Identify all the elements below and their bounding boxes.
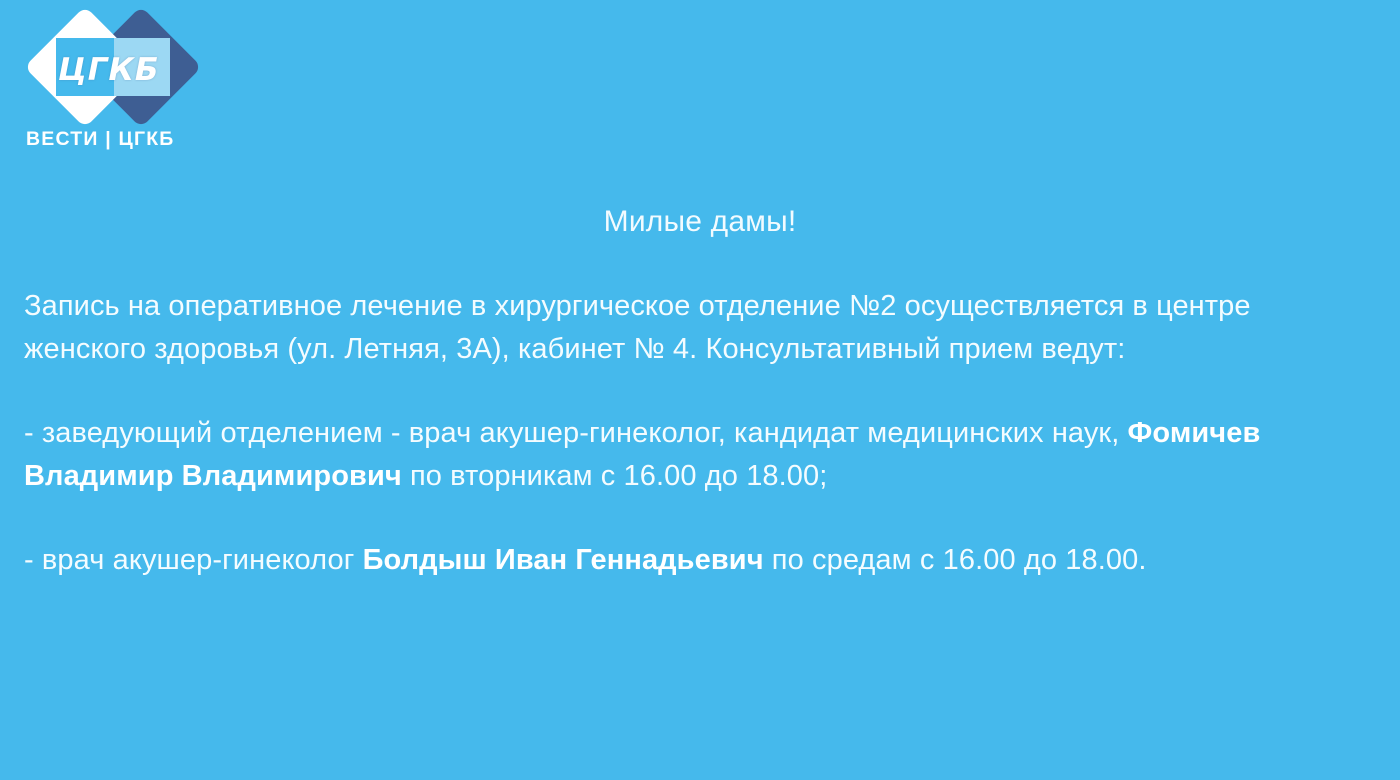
announcement-body: Запись на оперативное лечение в хирургич… [24, 285, 1380, 582]
doctor-head-schedule: по вторникам с 16.00 до 18.00; [402, 460, 828, 492]
brand-caption: ВЕСТИ | ЦГКБ [22, 128, 242, 151]
poster-canvas: ЦГКБ ВЕСТИ | ЦГКБ Милые дамы! Запись на … [0, 0, 1400, 780]
page-title: Милые дамы! [0, 205, 1400, 239]
brand-block: ЦГКБ ВЕСТИ | ЦГКБ [22, 8, 242, 151]
doctor-head-role: - заведующий отделением - врач акушер-ги… [24, 417, 1128, 449]
doctor-second-role: - врач акушер-гинеколог [24, 544, 363, 576]
paragraph-doctor-head: - заведующий отделением - врач акушер-ги… [24, 412, 1380, 498]
doctor-second-name: Болдыш Иван Геннадьевич [363, 544, 764, 576]
paragraph-booking-info: Запись на оперативное лечение в хирургич… [24, 285, 1380, 371]
cgkb-logo: ЦГКБ [24, 8, 192, 126]
paragraph-doctor-second: - врач акушер-гинеколог Болдыш Иван Генн… [24, 539, 1380, 582]
doctor-second-schedule: по средам с 16.00 до 18.00. [764, 544, 1147, 576]
logo-wordmark: ЦГКБ [58, 52, 159, 88]
